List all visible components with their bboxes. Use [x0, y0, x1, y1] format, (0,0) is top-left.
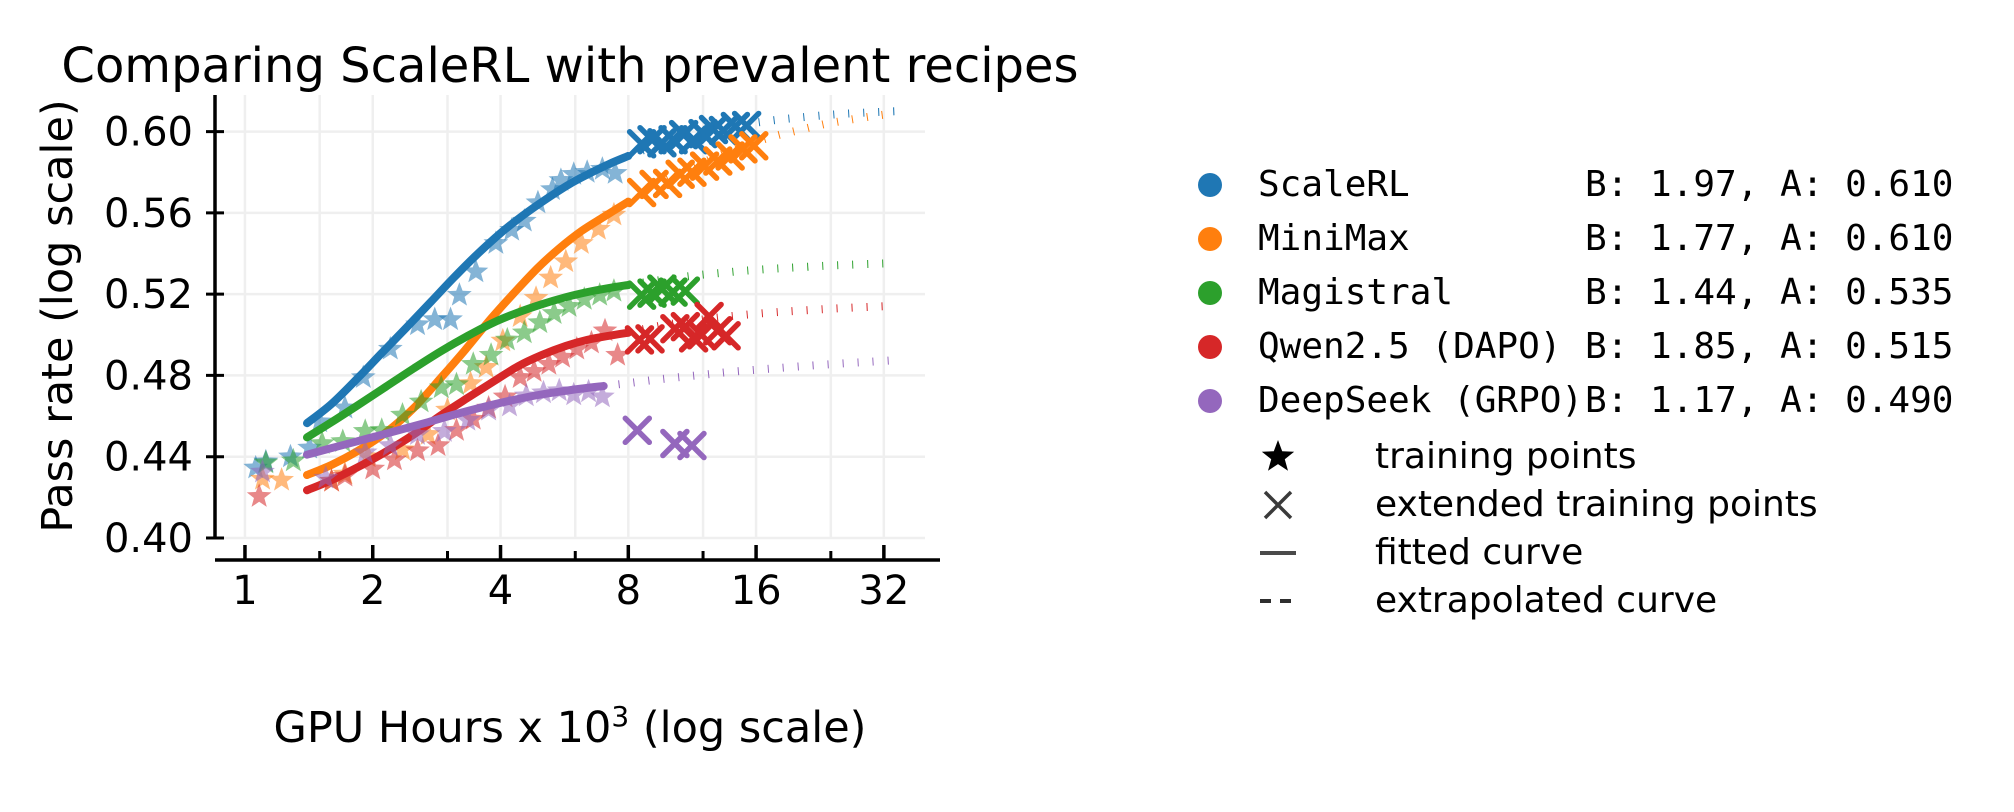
y-axis-title: Pass rate (log scale) — [33, 99, 83, 532]
legend-marker-0 — [1198, 173, 1222, 197]
legend-marker-4 — [1198, 389, 1222, 413]
legend-label-1: MiniMax — [1258, 218, 1410, 259]
y-tick-label: 0.60 — [104, 110, 193, 156]
legend-params-0: B: 1.97, A: 0.610 — [1585, 164, 1953, 205]
legend-marker-3 — [1198, 335, 1222, 359]
x-tick-label: 32 — [858, 568, 909, 614]
x-axis-title: GPU Hours x 103 (log scale) — [274, 700, 867, 753]
marker-legend: training pointsextended training pointsf… — [1260, 436, 1818, 621]
marker-legend-label-1: extended training points — [1375, 484, 1818, 525]
series-legend: ScaleRLB: 1.97, A: 0.610MiniMaxB: 1.77, … — [1198, 164, 1953, 421]
y-tick-label: 0.56 — [104, 191, 193, 237]
legend-label-4: DeepSeek (GRPO) — [1258, 380, 1583, 421]
legend-marker-2 — [1198, 281, 1222, 305]
legend-label-2: Magistral — [1258, 272, 1453, 313]
y-tick-label: 0.48 — [104, 353, 193, 399]
x-tick-label: 4 — [488, 568, 513, 614]
legend-params-3: B: 1.85, A: 0.515 — [1585, 326, 1953, 367]
legend-label-3: Qwen2.5 (DAPO) — [1258, 326, 1561, 367]
y-tick-label: 0.40 — [104, 516, 193, 562]
legend-params-4: B: 1.17, A: 0.490 — [1585, 380, 1953, 421]
marker-legend-label-2: fitted curve — [1375, 532, 1583, 573]
y-tick-label: 0.52 — [104, 272, 193, 318]
y-tick-labels: 0.400.440.480.520.560.60 — [104, 110, 193, 562]
marker-legend-label-0: training points — [1375, 436, 1636, 477]
legend-params-2: B: 1.44, A: 0.535 — [1585, 272, 1953, 313]
x-axis-ticks — [245, 545, 884, 560]
legend-marker-1 — [1198, 227, 1222, 251]
cross-icon — [1265, 492, 1291, 518]
marker-legend-label-3: extrapolated curve — [1375, 580, 1717, 621]
x-tick-label: 2 — [360, 568, 385, 614]
x-tick-label: 8 — [616, 568, 641, 614]
x-tick-label: 16 — [731, 568, 782, 614]
x-tick-labels: 12481632 — [232, 568, 909, 614]
legend-label-0: ScaleRL — [1258, 164, 1410, 205]
x-tick-label: 1 — [232, 568, 257, 614]
chart-title: Comparing ScaleRL with prevalent recipes — [61, 38, 1078, 94]
y-tick-label: 0.44 — [104, 435, 193, 481]
legend-params-1: B: 1.77, A: 0.610 — [1585, 218, 1953, 259]
scaling-law-chart: 0.400.440.480.520.560.60 12481632 Compar… — [0, 0, 2014, 812]
star-icon — [1262, 440, 1294, 471]
figure-container: 0.400.440.480.520.560.60 12481632 Compar… — [0, 0, 2014, 812]
